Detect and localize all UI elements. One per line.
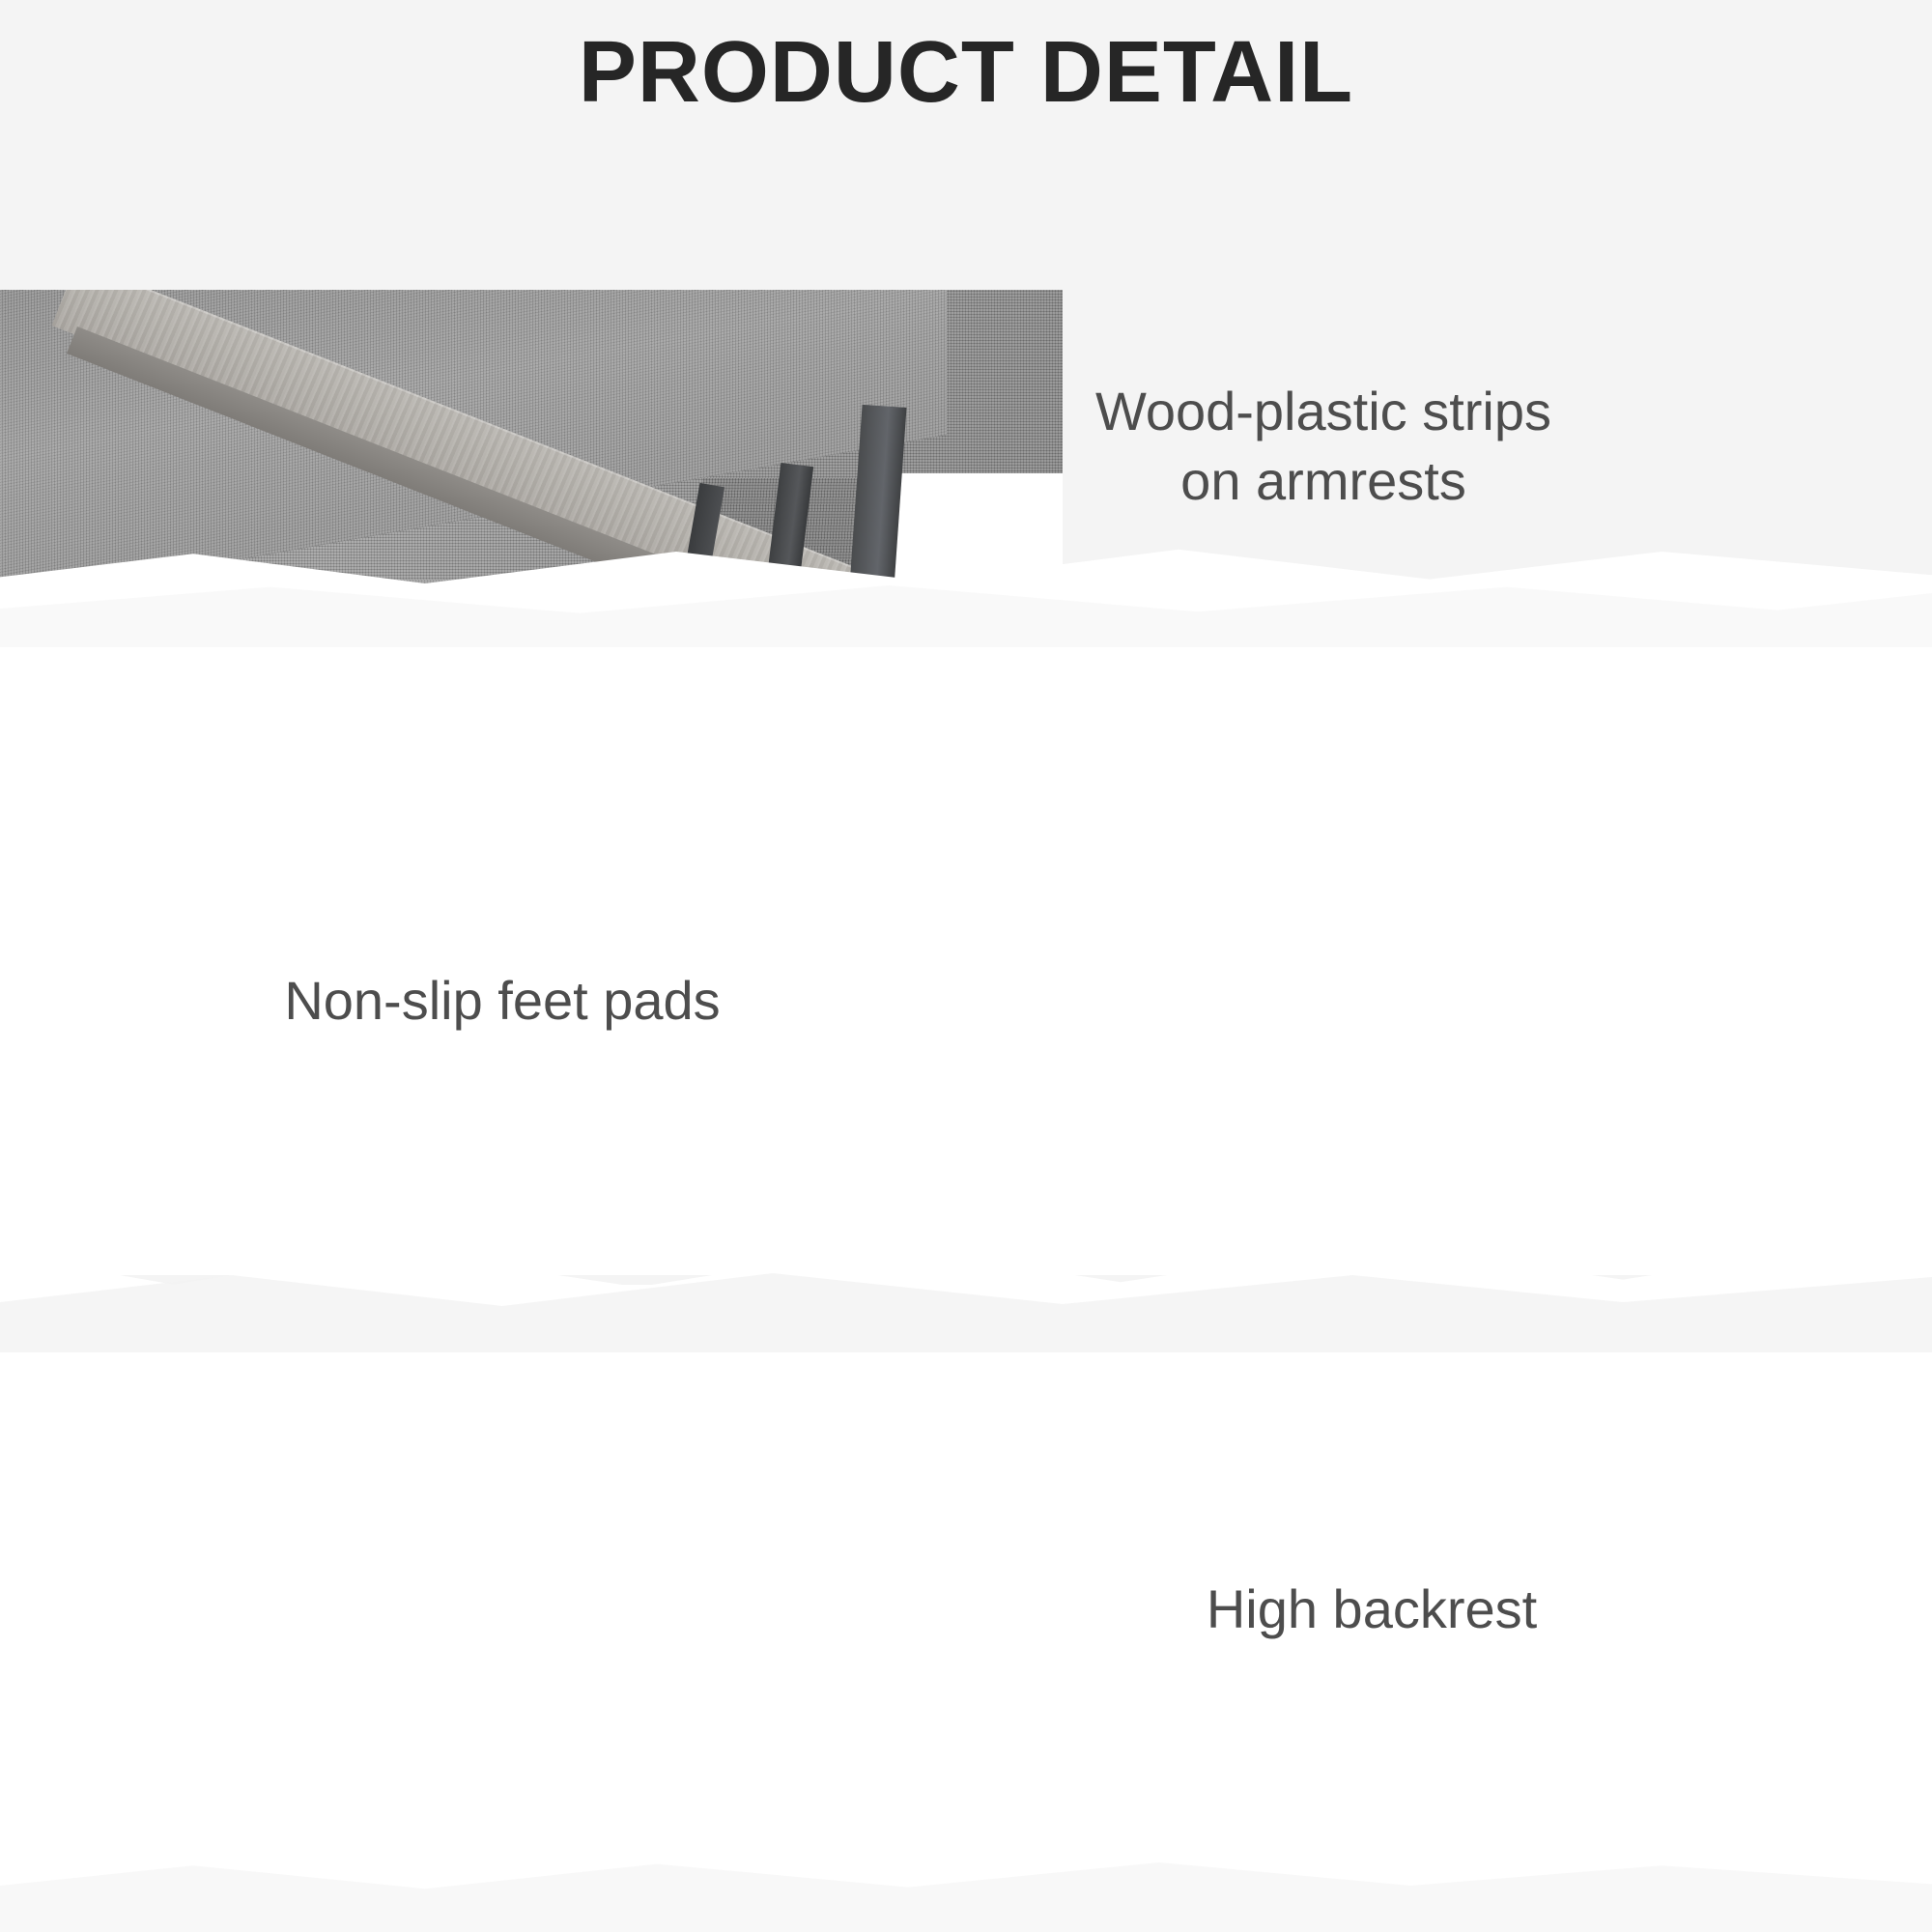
page-title: PRODUCT DETAIL	[0, 0, 1932, 145]
caption-feet: Non-slip feet pads	[174, 966, 831, 1036]
caption-backrest: High backrest	[1043, 1575, 1700, 1644]
caption-armrest: Wood-plastic strips on armrests	[985, 377, 1662, 515]
section-feet	[0, 599, 1932, 1275]
